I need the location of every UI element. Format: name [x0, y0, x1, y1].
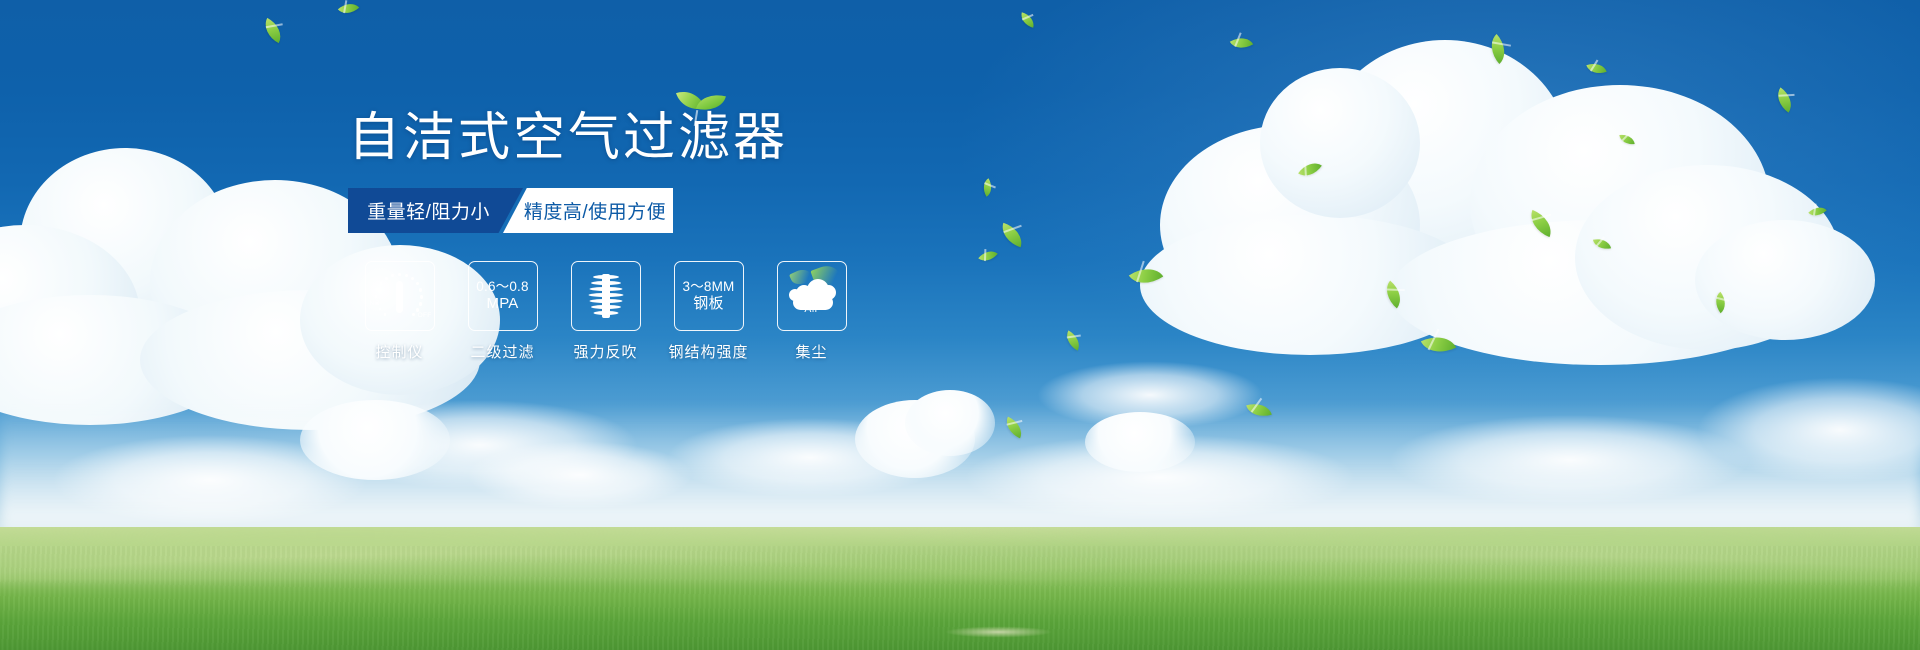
feature-item-dust-collection[interactable]: Air 集尘 — [760, 261, 863, 362]
feature-tabs: 重量轻/阻力小 精度高/使用方便 — [348, 188, 673, 233]
floating-leaf-icon — [338, 0, 359, 19]
feature-label: 二级过滤 — [451, 341, 554, 362]
cloud-haze — [430, 430, 730, 520]
feature-label: 集尘 — [760, 341, 863, 362]
feature-icon-row: NO OFF 控制仪 0.6～0.8 MPA 二级过滤 — [348, 261, 908, 362]
feature-item-reverse-blow[interactable]: 强力反吹 — [554, 261, 657, 362]
pressure-range-text: 0.6～0.8 — [476, 279, 528, 295]
feature-item-controller[interactable]: NO OFF 控制仪 — [348, 261, 451, 362]
cloud-puff — [1085, 412, 1195, 472]
pressure-unit-text: MPA — [487, 295, 519, 313]
tab-weight-resistance[interactable]: 重量轻/阻力小 — [348, 188, 523, 233]
cloud-air-icon: Air — [787, 278, 837, 314]
feature-item-two-stage-filter[interactable]: 0.6～0.8 MPA 二级过滤 — [451, 261, 554, 362]
banner-content: 自洁式空气过滤器 重量轻/阻力小 精度高/使用方便 — [348, 108, 908, 362]
gauge-label-off: OFF — [418, 312, 432, 319]
feature-label: 强力反吹 — [554, 341, 657, 362]
tab-label: 精度高/使用方便 — [524, 197, 666, 224]
filter-cartridge-icon — [586, 272, 626, 320]
air-label: Air — [787, 303, 837, 315]
feature-icon-box: 0.6～0.8 MPA — [468, 261, 538, 331]
cloud-puff — [905, 390, 995, 456]
cloud-cluster-right — [1140, 30, 1840, 360]
gauge-icon: NO OFF — [374, 273, 426, 319]
floating-leaf-icon — [1019, 12, 1037, 27]
floating-leaf-icon — [259, 18, 286, 43]
feature-label: 控制仪 — [348, 341, 451, 362]
floating-leaf-icon — [1062, 330, 1084, 350]
hero-banner: 自洁式空气过滤器 重量轻/阻力小 精度高/使用方便 — [0, 0, 1920, 650]
grass-path-highlight — [922, 624, 1076, 640]
feature-icon-box: 3～8MM 钢板 — [674, 261, 744, 331]
feature-icon-box — [571, 261, 641, 331]
title-block: 自洁式空气过滤器 — [348, 108, 908, 168]
floating-leaf-icon — [979, 178, 996, 196]
tab-precision-usability[interactable]: 精度高/使用方便 — [503, 188, 673, 233]
steel-thickness-text: 3～8MM — [682, 279, 734, 295]
steel-plate-text: 钢板 — [693, 295, 723, 313]
floating-leaf-icon — [998, 223, 1026, 248]
floating-leaf-icon — [978, 246, 997, 266]
page-title: 自洁式空气过滤器 — [348, 108, 908, 168]
gauge-label-no: NO — [370, 300, 380, 307]
feature-item-steel-strength[interactable]: 3～8MM 钢板 钢结构强度 — [657, 261, 760, 362]
feature-icon-box: NO OFF — [365, 261, 435, 331]
feature-icon-box: Air — [777, 261, 847, 331]
cloud-puff — [300, 400, 450, 480]
tab-label: 重量轻/阻力小 — [367, 197, 490, 224]
feature-label: 钢结构强度 — [657, 341, 760, 362]
